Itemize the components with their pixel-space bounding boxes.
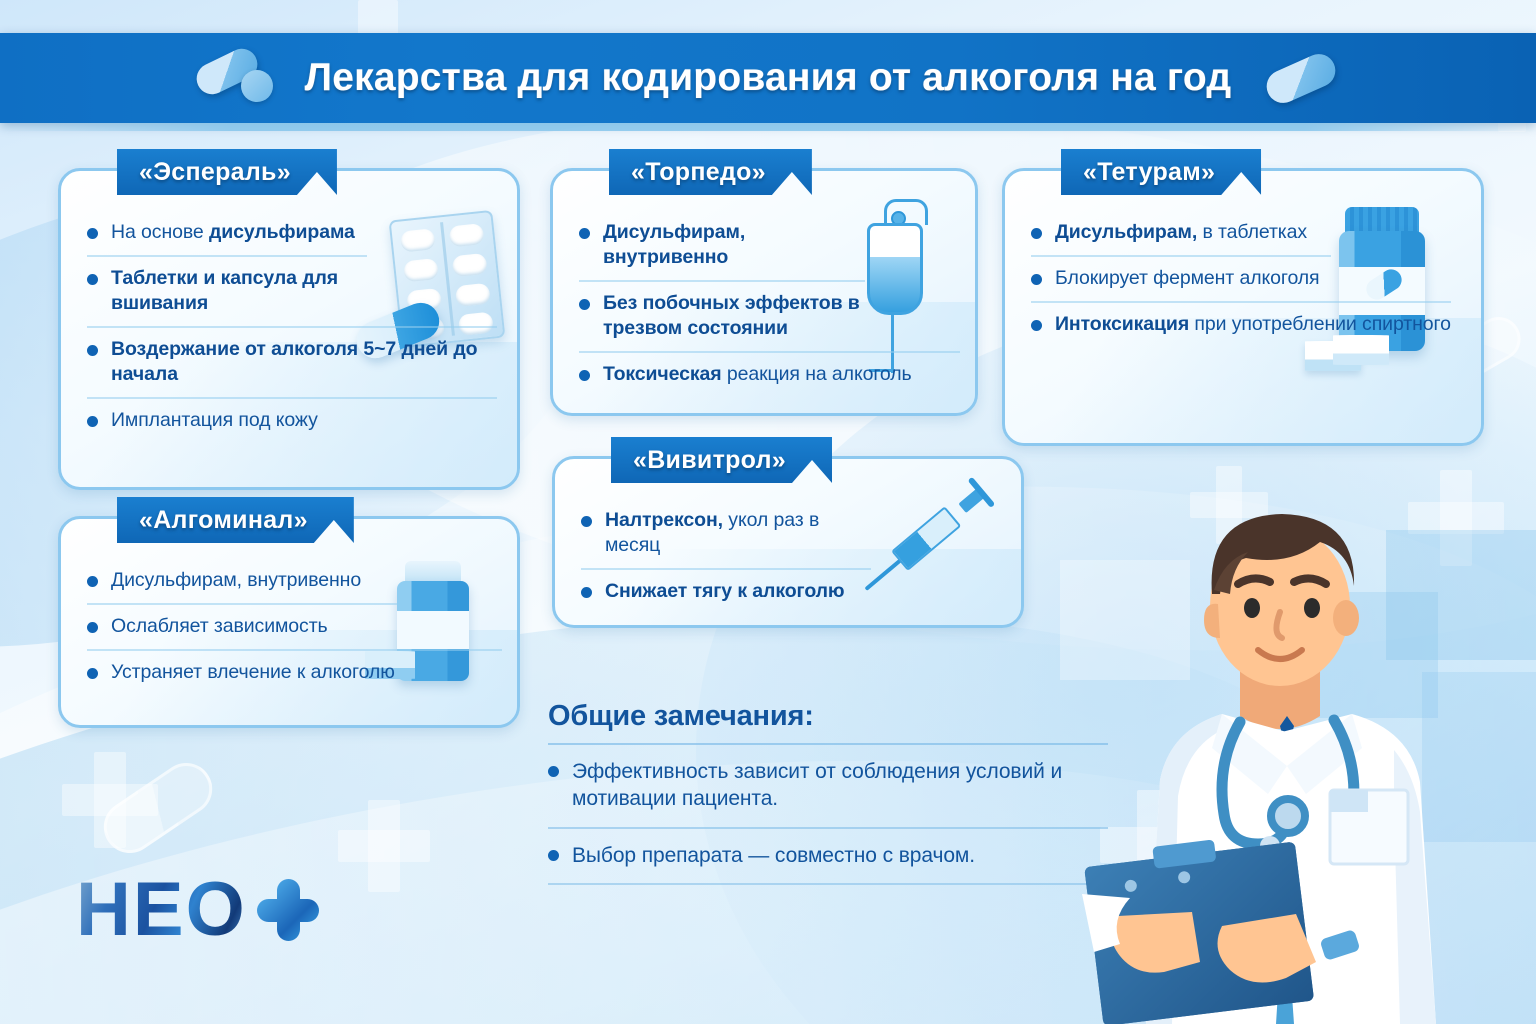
infographic-poster: Лекарства для кодирования от алкоголя на… (0, 0, 1536, 1024)
list-item-text: Токсическая реакция на алкоголь (603, 362, 912, 387)
card-title-torpedo: «Торпедо» (609, 149, 812, 195)
bullet-dot (1031, 228, 1042, 239)
list-item: Выбор препарата — совместно с врачом. (548, 827, 1108, 883)
bullet-list-torpedo: Дисульфирам, внутривенно Без побочных эф… (553, 211, 975, 397)
list-item: Налтрексон, укол раз в месяц (581, 499, 871, 568)
list-item: Токсическая реакция на алкоголь (579, 351, 960, 397)
capsule-watermark-icon (94, 753, 223, 863)
header-band: Лекарства для кодирования от алкоголя на… (0, 33, 1536, 123)
doctor-with-clipboard-illustration (1072, 464, 1502, 1024)
notes-title: Общие замечания: (548, 700, 1108, 743)
bullet-dot (579, 299, 590, 310)
logo-text: НЕО (76, 872, 247, 948)
card-teturam: «Тетурам» Дисульфирам, в таблетках Блоки… (1002, 168, 1484, 446)
bullet-dot (579, 228, 590, 239)
list-item-text: Дисульфирам, внутривенно (603, 220, 865, 270)
bullet-dot (581, 587, 592, 598)
card-torpedo: «Торпедо» Дисульфирам, внутривенно Без п… (550, 168, 978, 416)
bullet-dot (1031, 274, 1042, 285)
brand-logo: НЕО (76, 872, 319, 948)
bullet-dot (581, 516, 592, 527)
bullet-dot (579, 370, 590, 381)
cross-watermark-icon (62, 752, 158, 848)
list-item: Снижает тягу к алкоголю (581, 568, 871, 614)
list-item: Дисульфирам, в таблетках (1031, 211, 1331, 255)
page-title: Лекарства для кодирования от алкоголя на… (305, 56, 1232, 100)
bullet-dot (87, 416, 98, 427)
card-algominal: «Алгоминал» Дисульфирам, внутривенно Осл… (58, 516, 520, 728)
list-item-text: Дисульфирам, внутривенно (111, 568, 361, 593)
list-item-text: Устраняет влечение к алкоголю (111, 660, 395, 685)
list-item: Имплантация под кожу (87, 397, 497, 443)
bullet-dot (87, 668, 98, 679)
bullet-list-vivitrol: Налтрексон, укол раз в месяц Снижает тяг… (555, 499, 1021, 614)
notes-divider (548, 883, 1108, 885)
bullet-list-esperal: На основе дисульфирама Таблетки и капсул… (61, 211, 517, 443)
bullet-dot (87, 274, 98, 285)
list-item-text: Налтрексон, укол раз в месяц (605, 508, 871, 558)
list-item: Таблетки и капсула для вшивания (87, 255, 367, 326)
bullet-dot (548, 850, 559, 861)
card-title-esperal: «Эспераль» (117, 149, 337, 195)
list-item-text: Таблетки и капсула для вшивания (111, 266, 367, 316)
list-item: Блокирует фермент алкоголя (1031, 255, 1331, 301)
card-title-algominal: «Алгоминал» (117, 497, 354, 543)
bullet-dot (548, 766, 559, 777)
list-item: Интоксикация при употреблении спиртного (1031, 301, 1451, 347)
list-item: Без побочных эффектов в трезвом состояни… (579, 280, 865, 351)
capsule-icon (1257, 48, 1343, 108)
bullet-list-algominal: Дисульфирам, внутривенно Ослабляет завис… (61, 559, 517, 695)
list-item: Дисульфирам, внутривенно (579, 211, 865, 280)
general-notes-section: Общие замечания: Эффективность зависит о… (548, 700, 1108, 885)
list-item-text: Без побочных эффектов в трезвом состояни… (603, 291, 865, 341)
list-item-text: Эффективность зависит от соблюдения усло… (572, 758, 1108, 813)
card-vivitrol: «Вивитрол» Налтрексон, укол раз в месяц … (552, 456, 1024, 628)
plus-icon (257, 879, 319, 941)
capsule-tablet-icon (193, 48, 279, 108)
list-item: Дисульфирам, внутривенно (87, 559, 397, 603)
bullet-dot (87, 622, 98, 633)
list-item: Ослабляет зависимость (87, 603, 397, 649)
card-title-vivitrol: «Вивитрол» (611, 437, 832, 483)
list-item-text: Имплантация под кожу (111, 408, 318, 433)
card-title-teturam: «Тетурам» (1061, 149, 1261, 195)
cross-watermark-icon (338, 800, 430, 892)
list-item: Воздержание от алкоголя 5~7 дней до нача… (87, 326, 497, 397)
bullet-list-teturam: Дисульфирам, в таблетках Блокирует ферме… (1005, 211, 1481, 347)
list-item-text: На основе дисульфирама (111, 220, 355, 245)
list-item-text: Дисульфирам, в таблетках (1055, 220, 1307, 245)
list-item-text: Ослабляет зависимость (111, 614, 328, 639)
bullet-dot (87, 576, 98, 587)
list-item: Эффективность зависит от соблюдения усло… (548, 745, 1108, 827)
list-item-text: Снижает тягу к алкоголю (605, 579, 844, 604)
list-item-text: Выбор препарата — совместно с врачом. (572, 842, 975, 869)
list-item: На основе дисульфирама (87, 211, 367, 255)
list-item-text: Блокирует фермент алкоголя (1055, 266, 1320, 291)
list-item: Устраняет влечение к алкоголю (87, 649, 502, 695)
bullet-dot (87, 345, 98, 356)
list-item-text: Воздержание от алкоголя 5~7 дней до нача… (111, 337, 497, 387)
bullet-dot (87, 228, 98, 239)
list-item-text: Интоксикация при употреблении спиртного (1055, 312, 1451, 337)
card-esperal: «Эспераль» На основе дисульфирама (58, 168, 520, 490)
bullet-dot (1031, 320, 1042, 331)
